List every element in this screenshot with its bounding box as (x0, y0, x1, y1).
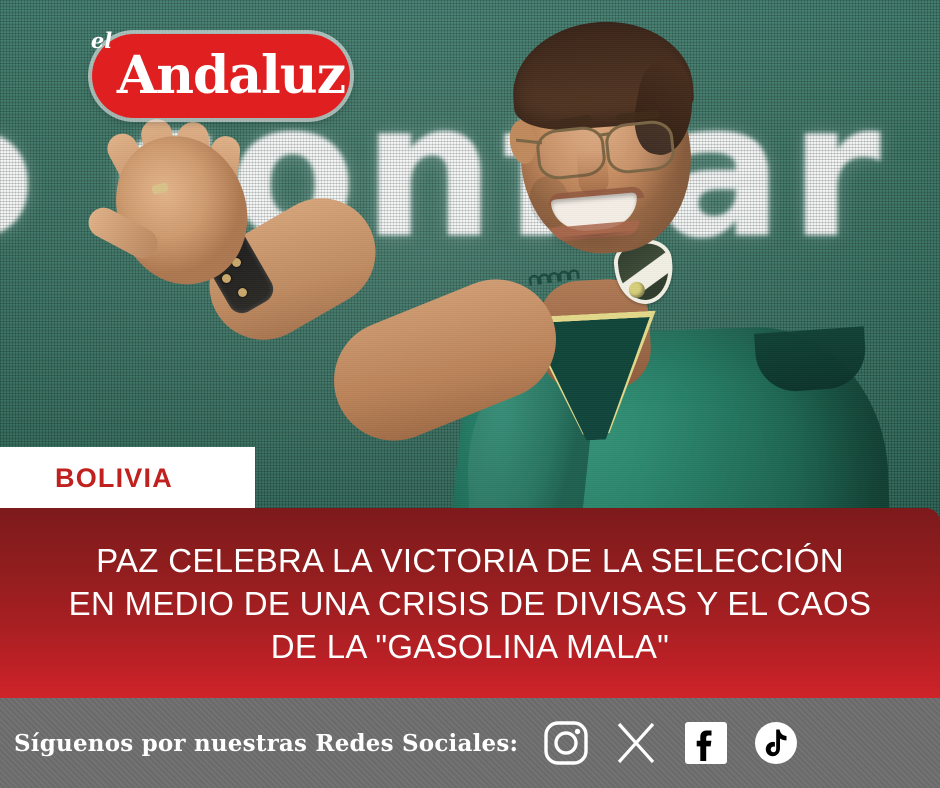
instagram-icon[interactable] (542, 719, 590, 767)
facebook-icon[interactable] (682, 719, 730, 767)
follow-us-label: Síguenos por nuestras Redes Sociales: (0, 730, 518, 757)
bracelet-bead (238, 288, 247, 297)
tiktok-icon[interactable] (752, 719, 800, 767)
social-links (542, 719, 800, 767)
brand-logo-prefix: el (91, 30, 112, 51)
category-tag-label: BOLIVIA (0, 463, 173, 494)
headline-line-1: PAZ CELEBRA LA VICTORIA DE LA SELECCIÓN (96, 539, 844, 582)
brand-logo-name: Andaluz (97, 50, 345, 102)
category-tag[interactable]: BOLIVIA (0, 447, 255, 510)
brand-logo-inner: el Andaluz (97, 50, 345, 102)
x-icon[interactable] (612, 719, 660, 767)
bracelet-bead (222, 274, 231, 283)
brand-logo[interactable]: el Andaluz (92, 34, 350, 118)
eyeglasses-lens-right (604, 119, 677, 176)
footer-bar: Síguenos por nuestras Redes Sociales: (0, 698, 940, 788)
headline-banner: PAZ CELEBRA LA VICTORIA DE LA SELECCIÓN … (0, 508, 940, 698)
news-card: o confiar (0, 0, 940, 788)
headline-line-2: EN MEDIO DE UNA CRISIS DE DIVISAS Y EL C… (69, 582, 872, 625)
headline-line-3: DE LA "GASOLINA MALA" (271, 625, 669, 668)
